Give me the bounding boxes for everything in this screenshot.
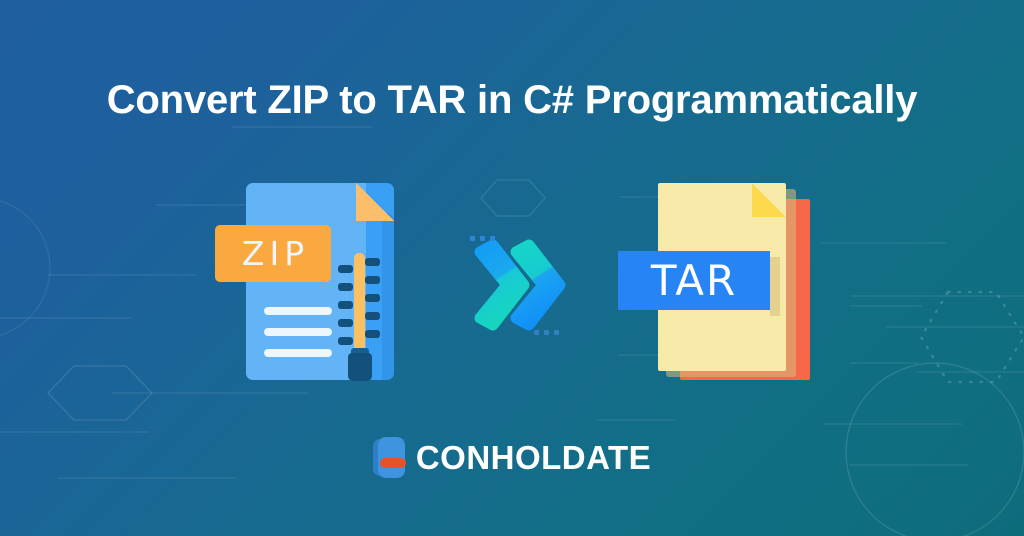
zip-folded-corner-icon: [356, 183, 394, 221]
zip-format-badge: ZIP: [215, 225, 331, 282]
zip-page-right-shade: [382, 213, 394, 380]
logo-mark-front-layer: [378, 437, 405, 478]
zip-file-illustration: ZIP: [246, 183, 394, 380]
zipper-tooth: [365, 258, 380, 266]
zip-content-line: [264, 307, 332, 315]
zipper-tooth: [365, 276, 380, 284]
tar-format-badge: TAR: [618, 251, 770, 310]
zipper-tooth: [338, 301, 353, 309]
zipper-tooth: [365, 294, 380, 302]
zip-content-line: [264, 328, 332, 336]
dot: [554, 330, 559, 335]
zipper-tooth: [365, 330, 380, 338]
decor-dots-bottom: [534, 330, 559, 335]
dot: [534, 330, 539, 335]
zipper-tooth: [365, 312, 380, 320]
conversion-arrow-group: [462, 228, 572, 348]
brand-logo: CONHOLDATE: [0, 437, 1024, 478]
decor-hexagon-top: [481, 180, 545, 216]
zip-content-line: [264, 349, 332, 357]
logo-mark-accent-bar: [380, 458, 406, 468]
decor-hexagon-dotted-right: [921, 292, 1024, 382]
conholdate-mark-icon: [373, 437, 405, 478]
zipper-tooth: [338, 265, 353, 273]
zipper-tooth: [338, 319, 353, 327]
dot: [490, 236, 495, 241]
zipper-strip-icon: [354, 253, 365, 363]
zipper-pull-icon: [348, 353, 372, 381]
zipper-tooth: [338, 337, 353, 345]
decor-circle-left: [0, 198, 50, 338]
dot: [480, 236, 485, 241]
dot: [544, 330, 549, 335]
tar-folded-corner-icon: [752, 183, 786, 217]
tar-file-illustration: TAR: [658, 183, 810, 380]
tar-badge-shadow: [770, 257, 780, 316]
decor-hexagon-left: [48, 366, 152, 420]
page-title: Convert ZIP to TAR in C# Programmaticall…: [0, 77, 1024, 123]
zipper-tooth: [338, 283, 353, 291]
banner-canvas: Convert ZIP to TAR in C# Programmaticall…: [0, 0, 1024, 536]
brand-name: CONHOLDATE: [416, 439, 651, 477]
dot: [470, 236, 475, 241]
decor-dots-top: [470, 236, 495, 241]
